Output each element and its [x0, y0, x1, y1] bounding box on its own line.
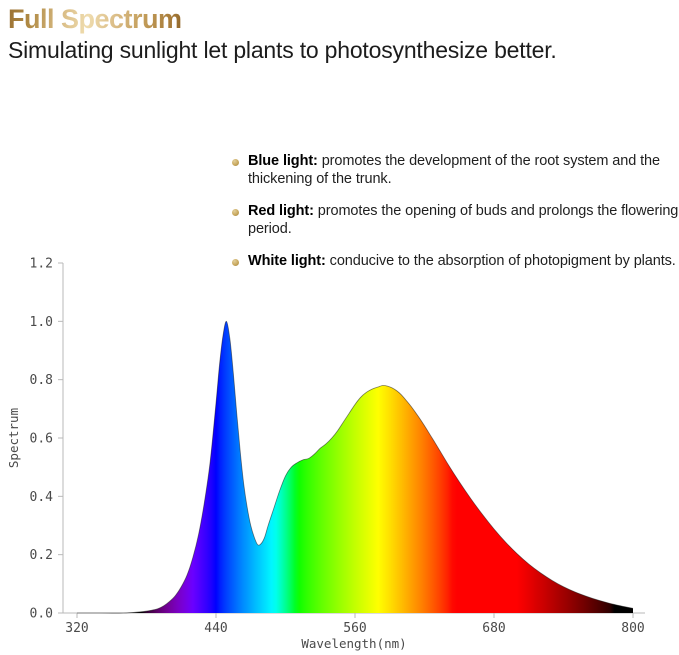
x-tick-label: 560 — [343, 621, 366, 636]
list-item-term: Red light: — [248, 203, 314, 219]
y-tick-label: 0.6 — [30, 432, 53, 447]
y-tick-label: 1.2 — [30, 257, 53, 272]
list-item-text: Blue light: promotes the development of … — [248, 152, 679, 188]
y-axis-title: Spectrum — [6, 408, 21, 468]
x-axis-title: Wavelength(nm) — [301, 636, 406, 651]
bullet-dot-icon — [232, 209, 239, 216]
y-tick-label: 1.0 — [30, 315, 53, 330]
list-item: Blue light: promotes the development of … — [232, 152, 679, 188]
x-tick-label: 680 — [482, 621, 505, 636]
x-tick-label: 320 — [65, 621, 88, 636]
bullet-dot-icon — [232, 159, 239, 166]
y-tick-label: 0.2 — [30, 548, 53, 563]
y-axis-ticks: 0.00.20.40.60.81.01.2 — [30, 257, 63, 622]
x-axis-ticks: 320440560680800 — [65, 613, 644, 636]
y-tick-label: 0.0 — [30, 607, 53, 622]
x-tick-label: 800 — [621, 621, 644, 636]
list-item-term: Blue light: — [248, 153, 318, 169]
page-title: Full Spectrum — [8, 2, 182, 36]
list-item: Red light: promotes the opening of buds … — [232, 202, 679, 238]
x-tick-label: 440 — [204, 621, 227, 636]
page-subtitle: Simulating sunlight let plants to photos… — [8, 36, 648, 64]
spectrum-chart: 0.00.20.40.60.81.01.2 320440560680800 Sp… — [0, 248, 679, 655]
header-block: Full Spectrum Simulating sunlight let pl… — [8, 2, 668, 64]
y-tick-label: 0.4 — [30, 490, 54, 505]
y-tick-label: 0.8 — [30, 373, 53, 388]
list-item-text: Red light: promotes the opening of buds … — [248, 202, 679, 238]
spectrum-area-fill — [0, 248, 679, 655]
